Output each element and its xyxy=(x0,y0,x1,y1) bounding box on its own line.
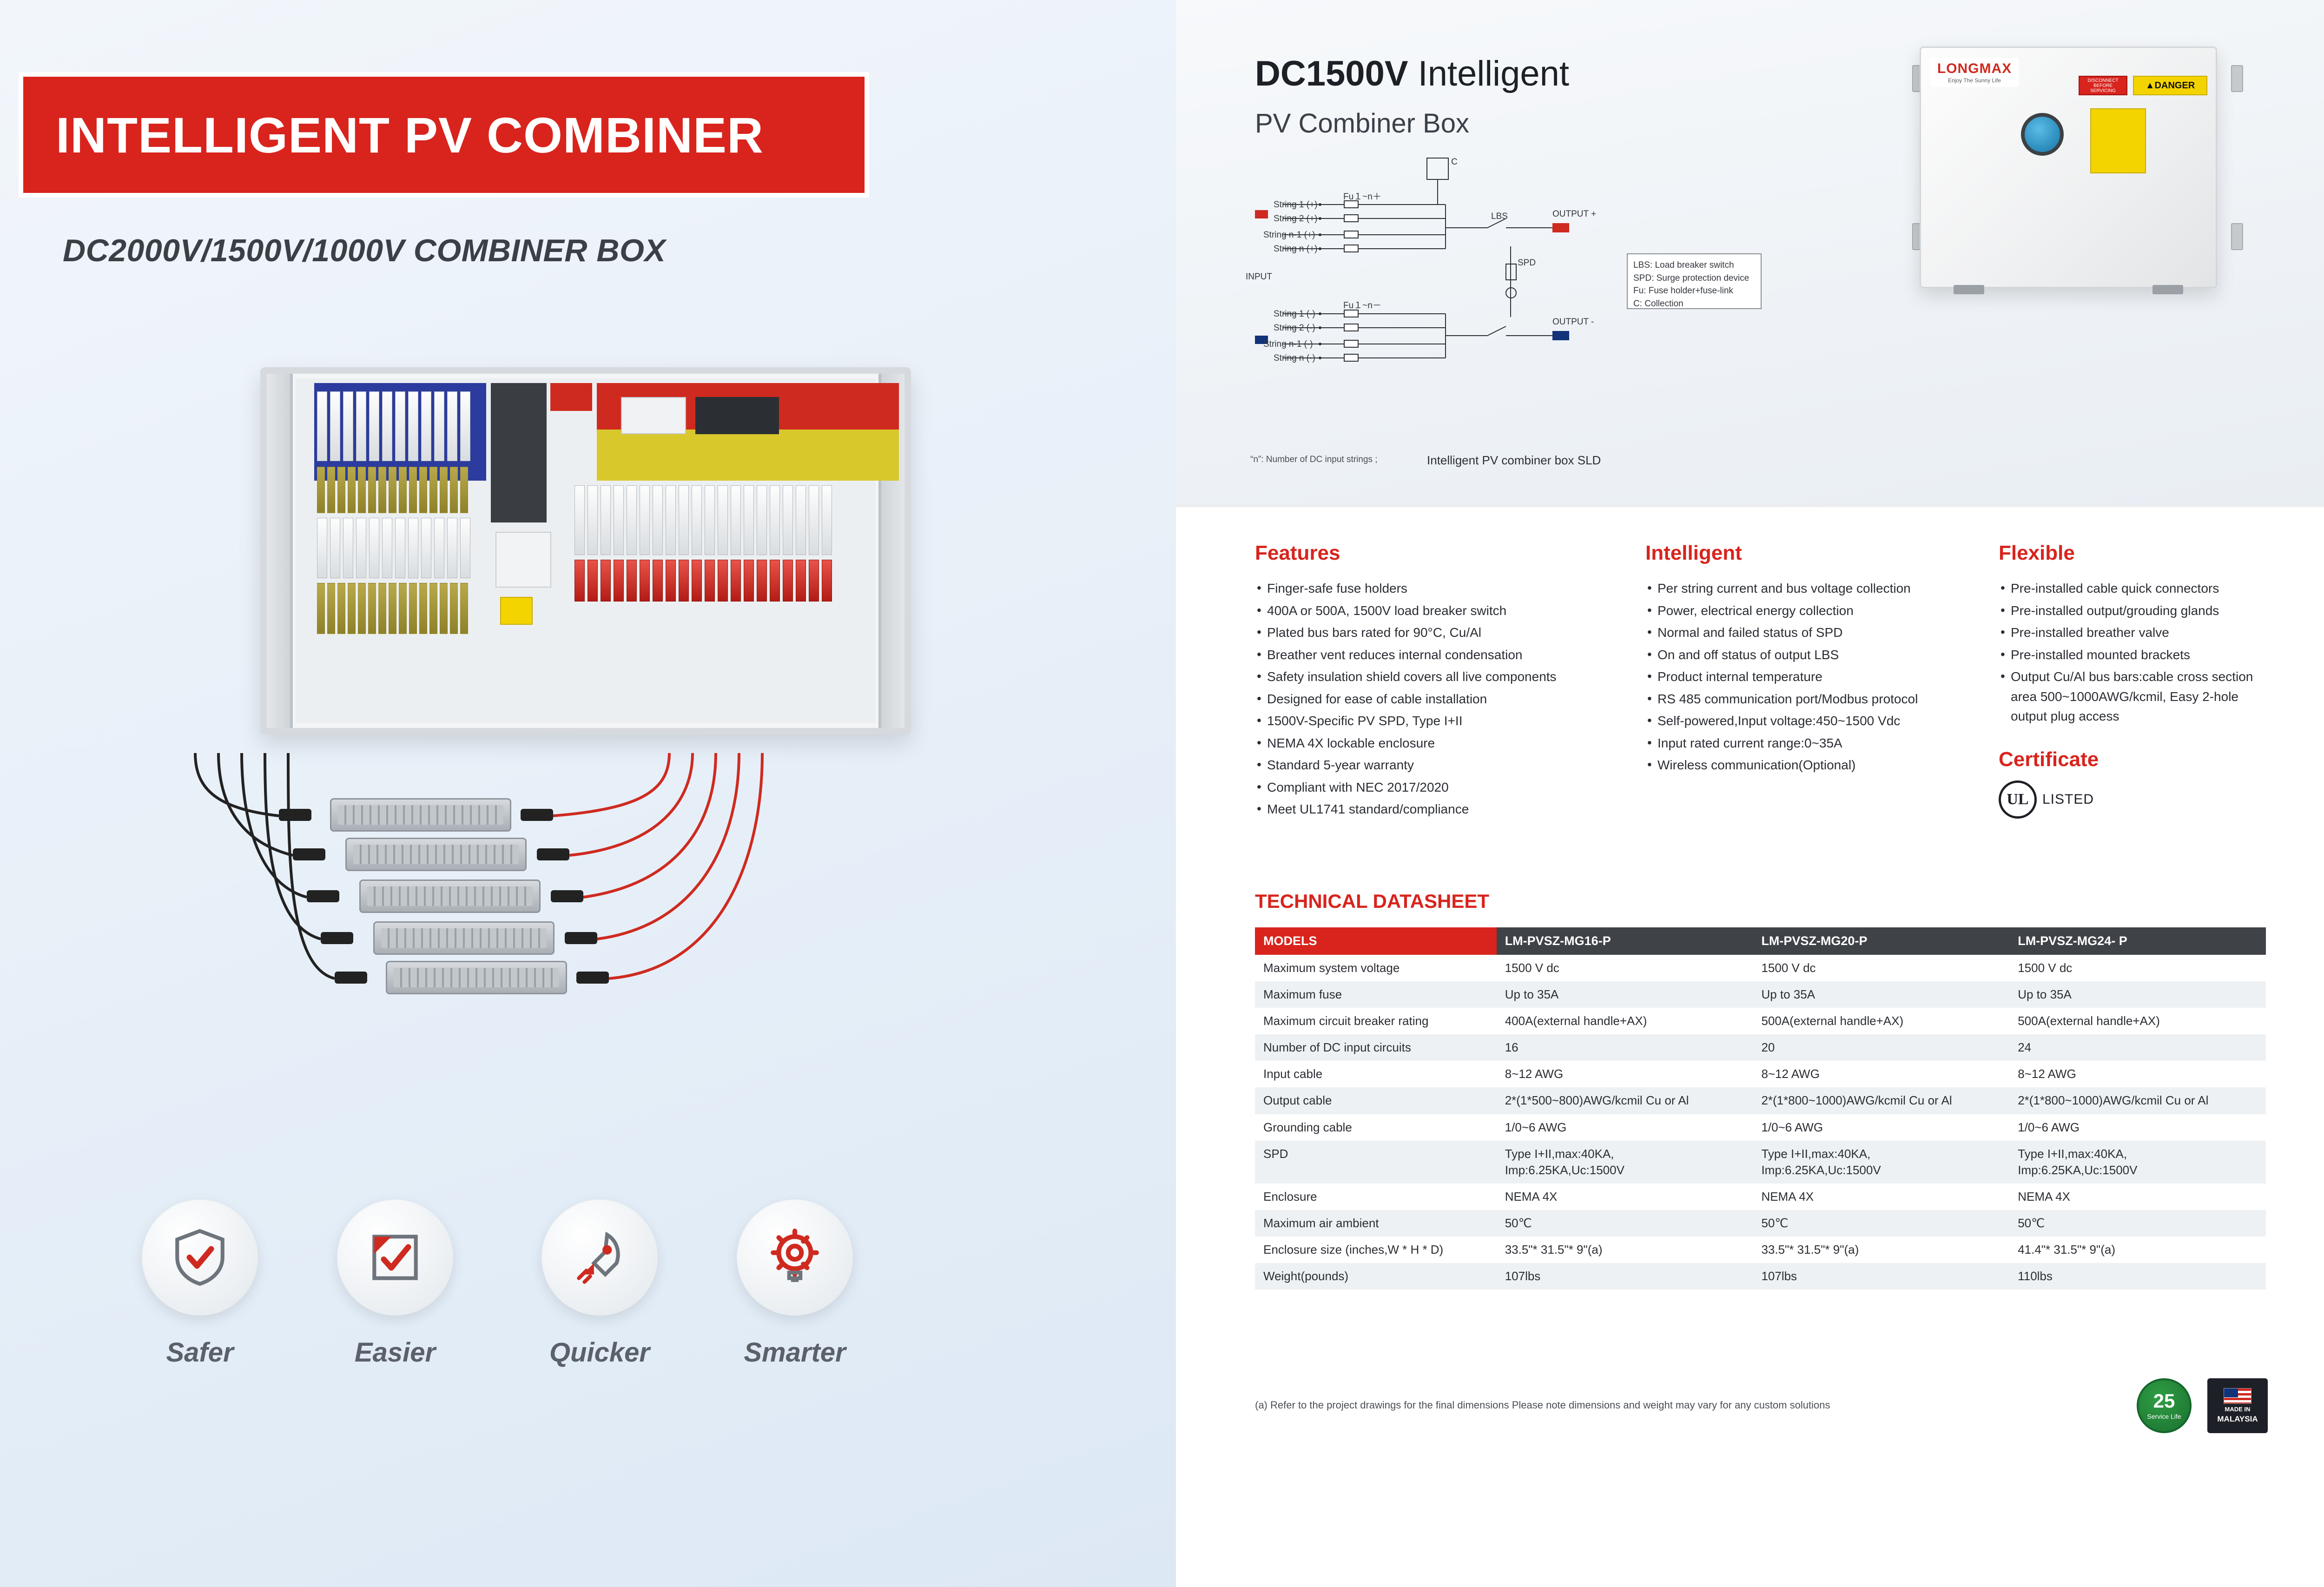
list-item: Meet UL1741 standard/compliance xyxy=(1255,800,1576,820)
row-value: 41.4"* 31.5"* 9"(a) xyxy=(2009,1237,2266,1263)
checklist-icon-wrap xyxy=(337,1199,453,1316)
intelligent-list: Per string current and bus voltage colle… xyxy=(1645,579,1966,775)
danger-label: ▲DANGER xyxy=(2133,76,2207,95)
table-row: Number of DC input circuits 16 20 24 xyxy=(1255,1034,2266,1061)
sld-string-neg-2: String 2 (-) xyxy=(1274,323,1315,333)
table-row: Output cable 2*(1*500~800)AWG/kcmil Cu o… xyxy=(1255,1087,2266,1114)
enclosure-interior xyxy=(296,378,876,723)
legend-item-spd: SPD: Surge protection device xyxy=(1633,272,1755,285)
row-value: 33.5"* 31.5"* 9"(a) xyxy=(1497,1237,1753,1263)
table-row: SPD Type I+II,max:40KA, Imp:6.25KA,Uc:15… xyxy=(1255,1141,2266,1184)
power-supply-module xyxy=(695,397,779,434)
row-value: 1500 V dc xyxy=(1497,955,1753,981)
hero-section: DC1500V Intelligent PV Combiner Box xyxy=(1176,0,2324,504)
pv-module-3 xyxy=(359,879,541,913)
list-item: Pre-installed cable quick connectors xyxy=(1999,579,2278,599)
benefit-icons: Safer Easier xyxy=(60,1199,1083,1478)
pv-string-cable-diagram xyxy=(139,734,906,1144)
th-model-2: LM-PVSZ-MG20-P xyxy=(1753,927,2009,955)
list-item: Breather vent reduces internal condensat… xyxy=(1255,645,1576,665)
made-in-malaysia-badge: MADE IN MALAYSIA xyxy=(2207,1378,2268,1433)
features-list: Finger-safe fuse holders 400A or 500A, 1… xyxy=(1255,579,1576,820)
list-item: RS 485 communication port/Modbus protoco… xyxy=(1645,689,1966,709)
benefit-label-safer: Safer xyxy=(125,1337,274,1368)
list-item: Normal and failed status of SPD xyxy=(1645,623,1966,643)
datasheet-title: TECHNICAL DATASHEET xyxy=(1255,890,1489,913)
sld-lbs-label: LBS xyxy=(1491,212,1508,222)
row-value: 107lbs xyxy=(1753,1263,2009,1289)
sld-output-pos-label: OUTPUT + xyxy=(1552,209,1596,219)
sld-note: “n”: Number of DC input strings ; xyxy=(1250,455,1377,465)
table-row: Input cable 8~12 AWG 8~12 AWG 8~12 AWG xyxy=(1255,1061,2266,1087)
row-value: Up to 35A xyxy=(2009,981,2266,1008)
product-subtitle: PV Combiner Box xyxy=(1255,108,1469,139)
gear-bulb-icon xyxy=(765,1227,825,1288)
row-value: 400A(external handle+AX) xyxy=(1497,1008,1753,1034)
pv-module-1 xyxy=(330,798,511,832)
sld-string-pos-2: String 2 (+) xyxy=(1274,214,1318,224)
row-value: 8~12 AWG xyxy=(1497,1061,1753,1087)
service-life-badge: 25 Service Life xyxy=(2137,1378,2192,1433)
main-title-banner: INTELLIGENT PV COMBINER xyxy=(19,72,869,198)
row-value: 1/0~6 AWG xyxy=(2009,1114,2266,1141)
list-item: Pre-installed mounted brackets xyxy=(1999,645,2278,665)
table-row: Enclosure NEMA 4X NEMA 4X NEMA 4X xyxy=(1255,1184,2266,1210)
country-text: MALAYSIA xyxy=(2217,1415,2258,1424)
list-item: Plated bus bars rated for 90°C, Cu/Al xyxy=(1255,623,1576,643)
output-fuse-row-right xyxy=(574,560,895,602)
table-row: Enclosure size (inches,W * H * D) 33.5"*… xyxy=(1255,1237,2266,1263)
yellow-shield xyxy=(597,430,899,481)
meter-display xyxy=(621,397,686,434)
terminal-row-left xyxy=(317,467,484,513)
benefit-smarter: Smarter xyxy=(720,1199,869,1368)
row-label: Maximum circuit breaker rating xyxy=(1255,1008,1497,1034)
input-fuse-row-left xyxy=(317,391,482,461)
benefit-safer: Safer xyxy=(125,1199,274,1368)
section-divider xyxy=(1176,504,2324,507)
rocket-icon-wrap xyxy=(541,1199,658,1316)
warning-sticker xyxy=(2090,108,2146,173)
legend-item-c: C: Collection xyxy=(1633,298,1755,311)
row-label: Enclosure xyxy=(1255,1184,1497,1210)
main-subtitle: DC2000V/1500V/1000V COMBINER BOX xyxy=(63,232,666,269)
row-value: 8~12 AWG xyxy=(1753,1061,2009,1087)
row-value: 500A(external handle+AX) xyxy=(2009,1008,2266,1034)
row-value: 1/0~6 AWG xyxy=(1753,1114,2009,1141)
row-value: 8~12 AWG xyxy=(2009,1061,2266,1087)
datasheet-footnote: (a) Refer to the project drawings for th… xyxy=(1255,1399,1830,1411)
brand-tagline: Enjoy The Sunny Life xyxy=(1948,78,2001,83)
th-model-3: LM-PVSZ-MG24- P xyxy=(2009,927,2266,955)
list-item: Designed for ease of cable installation xyxy=(1255,689,1576,709)
sld-output-neg-label: OUTPUT - xyxy=(1552,317,1594,327)
table-row: Grounding cable 1/0~6 AWG 1/0~6 AWG 1/0~… xyxy=(1255,1114,2266,1141)
sld-string-pos-4: String n (+) xyxy=(1274,244,1318,254)
row-value: 2*(1*800~1000)AWG/kcmil Cu or Al xyxy=(1753,1087,2009,1114)
column-flexible: Flexible Pre-installed cable quick conne… xyxy=(1999,542,2278,819)
row-value: 500A(external handle+AX) xyxy=(1753,1008,2009,1034)
pv-module-4 xyxy=(373,921,555,955)
row-value: Type I+II,max:40KA, Imp:6.25KA,Uc:1500V xyxy=(1497,1141,1753,1184)
ul-icon: UL xyxy=(1999,780,2037,819)
row-value: Up to 35A xyxy=(1497,981,1753,1008)
row-label: Output cable xyxy=(1255,1087,1497,1114)
row-value: Up to 35A xyxy=(1753,981,2009,1008)
column-heading-features: Features xyxy=(1255,542,1576,565)
malaysia-flag-icon xyxy=(2224,1388,2251,1404)
breaker-block xyxy=(491,383,547,522)
row-value: 107lbs xyxy=(1497,1263,1753,1289)
input-fuse-row-left-2 xyxy=(317,518,482,578)
table-row: Maximum fuse Up to 35A Up to 35A Up to 3… xyxy=(1255,981,2266,1008)
row-label: Enclosure size (inches,W * H * D) xyxy=(1255,1237,1497,1263)
list-item: Output Cu/Al bus bars:cable cross sectio… xyxy=(1999,667,2278,727)
checklist-icon xyxy=(365,1227,425,1288)
sld-string-neg-4: String n (-) xyxy=(1274,353,1315,364)
brand-logo: LONGMAX Enjoy The Sunny Life xyxy=(1930,58,2019,87)
benefit-easier: Easier xyxy=(321,1199,469,1368)
column-heading-flexible: Flexible xyxy=(1999,542,2278,565)
benefit-label-quicker: Quicker xyxy=(525,1337,674,1368)
sld-collection-label: C xyxy=(1451,157,1458,167)
sld-string-neg-3: String n-1 (-) xyxy=(1263,339,1313,350)
list-item: NEMA 4X lockable enclosure xyxy=(1255,734,1576,754)
product-title: DC1500V Intelligent xyxy=(1255,53,1569,94)
ul-listed-text: LISTED xyxy=(2042,792,2094,807)
table-row: Maximum system voltage 1500 V dc 1500 V … xyxy=(1255,955,2266,981)
brochure-page: INTELLIGENT PV COMBINER DC2000V/1500V/10… xyxy=(0,0,2324,1587)
table-head: MODELS LM-PVSZ-MG16-P LM-PVSZ-MG20-P LM-… xyxy=(1255,927,2266,955)
disconnect-warning-label: DISCONNECT BEFORE SERVICING xyxy=(2079,76,2127,95)
product-open-box-photo xyxy=(260,367,911,734)
brand-name: LONGMAX xyxy=(1937,62,2012,76)
sld-spd-label: SPD xyxy=(1518,258,1536,268)
shield-check-icon xyxy=(170,1227,230,1288)
row-label: Maximum fuse xyxy=(1255,981,1497,1008)
row-label: SPD xyxy=(1255,1141,1497,1184)
spd-module xyxy=(495,532,551,588)
service-life-number: 25 xyxy=(2153,1391,2175,1411)
th-models: MODELS xyxy=(1255,927,1497,955)
row-value: 110lbs xyxy=(2009,1263,2266,1289)
shield-check-icon-wrap xyxy=(142,1199,258,1316)
list-item: Standard 5-year warranty xyxy=(1255,755,1576,775)
list-item: Compliant with NEC 2017/2020 xyxy=(1255,778,1576,798)
list-item: Finger-safe fuse holders xyxy=(1255,579,1576,599)
pv-module-5 xyxy=(386,961,567,994)
enclosure-front-door: LONGMAX Enjoy The Sunny Life DISCONNECT … xyxy=(1920,46,2217,288)
certificate-heading: Certificate xyxy=(1999,748,2278,771)
sld-string-pos-3: String n-1 (+) xyxy=(1263,230,1315,240)
list-item: Power, electrical energy collection xyxy=(1645,601,1966,621)
row-label: Weight(pounds) xyxy=(1255,1263,1497,1289)
row-label: Maximum air ambient xyxy=(1255,1210,1497,1237)
left-panel: INTELLIGENT PV COMBINER DC2000V/1500V/10… xyxy=(0,0,1176,1587)
mounting-foot-right xyxy=(2152,285,2183,294)
technical-datasheet-table: MODELS LM-PVSZ-MG16-P LM-PVSZ-MG20-P LM-… xyxy=(1255,927,2266,1289)
row-value: 16 xyxy=(1497,1034,1753,1061)
row-value: Type I+II,max:40KA, Imp:6.25KA,Uc:1500V xyxy=(2009,1141,2266,1184)
right-panel: DC1500V Intelligent PV Combiner Box xyxy=(1176,0,2324,1587)
row-value: 2*(1*800~1000)AWG/kcmil Cu or Al xyxy=(2009,1087,2266,1114)
sld-legend: LBS: Load breaker switch SPD: Surge prot… xyxy=(1627,253,1762,309)
enclosure-left-door xyxy=(260,367,293,734)
list-item: Pre-installed output/grouding glands xyxy=(1999,601,2278,621)
sld-string-neg-1: String 1 (-) xyxy=(1274,309,1315,319)
list-item: 400A or 500A, 1500V load breaker switch xyxy=(1255,601,1576,621)
hinge-top-right xyxy=(2231,65,2243,92)
table-row: Weight(pounds) 107lbs 107lbs 110lbs xyxy=(1255,1263,2266,1289)
single-line-diagram: String 1 (+) String 2 (+) String n-1 (+)… xyxy=(1227,153,1780,469)
row-label: Number of DC input circuits xyxy=(1255,1034,1497,1061)
product-title-bold: DC1500V xyxy=(1255,54,1408,93)
column-intelligent: Intelligent Per string current and bus v… xyxy=(1645,542,1966,778)
row-value: 33.5"* 31.5"* 9"(a) xyxy=(1753,1237,2009,1263)
row-label: Grounding cable xyxy=(1255,1114,1497,1141)
rocket-icon xyxy=(569,1227,630,1288)
row-value: 20 xyxy=(1753,1034,2009,1061)
table-body: Maximum system voltage 1500 V dc 1500 V … xyxy=(1255,955,2266,1289)
service-life-text: Service Life xyxy=(2147,1413,2181,1420)
high-voltage-warning-label xyxy=(500,597,533,625)
list-item: Input rated current range:0~35A xyxy=(1645,734,1966,754)
list-item: Pre-installed breather valve xyxy=(1999,623,2278,643)
row-value: 1/0~6 AWG xyxy=(1497,1114,1753,1141)
column-heading-intelligent: Intelligent xyxy=(1645,542,1966,565)
row-value: NEMA 4X xyxy=(2009,1184,2266,1210)
row-value: 1500 V dc xyxy=(2009,955,2266,981)
row-value: NEMA 4X xyxy=(1753,1184,2009,1210)
row-value: 50℃ xyxy=(2009,1210,2266,1237)
table-header-row: MODELS LM-PVSZ-MG16-P LM-PVSZ-MG20-P LM-… xyxy=(1255,927,2266,955)
legend-item-fu: Fu: Fuse holder+fuse-link xyxy=(1633,284,1755,298)
row-label: Input cable xyxy=(1255,1061,1497,1087)
row-value: 50℃ xyxy=(1497,1210,1753,1237)
input-fuse-row-right xyxy=(574,485,895,555)
list-item: Safety insulation shield covers all live… xyxy=(1255,667,1576,687)
table-row: Maximum air ambient 50℃ 50℃ 50℃ xyxy=(1255,1210,2266,1237)
row-value: 50℃ xyxy=(1753,1210,2009,1237)
list-item: Wireless communication(Optional) xyxy=(1645,755,1966,775)
mounting-foot-left xyxy=(1954,285,1984,294)
list-item: Self-powered,Input voltage:450~1500 Vdc xyxy=(1645,711,1966,731)
column-features: Features Finger-safe fuse holders 400A o… xyxy=(1255,542,1576,822)
table-row: Maximum circuit breaker rating 400A(exte… xyxy=(1255,1008,2266,1034)
red-indicator-block xyxy=(550,383,592,411)
rotary-disconnect-handle[interactable] xyxy=(2021,113,2064,156)
main-title: INTELLIGENT PV COMBINER xyxy=(56,106,764,164)
th-model-1: LM-PVSZ-MG16-P xyxy=(1497,927,1753,955)
sld-fuse-neg-label: Fu１~n－ xyxy=(1343,298,1381,311)
product-closed-box-photo: LONGMAX Enjoy The Sunny Life DISCONNECT … xyxy=(1901,37,2254,307)
terminal-row-left-2 xyxy=(317,583,484,634)
hinge-bottom-right xyxy=(2231,223,2243,250)
row-label: Maximum system voltage xyxy=(1255,955,1497,981)
row-value: Type I+II,max:40KA, Imp:6.25KA,Uc:1500V xyxy=(1753,1141,2009,1184)
benefit-label-smarter: Smarter xyxy=(720,1337,869,1368)
sld-caption: Intelligent PV combiner box SLD xyxy=(1427,453,1601,468)
list-item: Product internal temperature xyxy=(1645,667,1966,687)
pv-module-2 xyxy=(345,838,527,871)
row-value: NEMA 4X xyxy=(1497,1184,1753,1210)
product-title-light: Intelligent xyxy=(1408,54,1569,93)
gear-bulb-icon-wrap xyxy=(737,1199,853,1316)
list-item: 1500V-Specific PV SPD, Type I+II xyxy=(1255,711,1576,731)
flexible-list: Pre-installed cable quick connectors Pre… xyxy=(1999,579,2278,727)
list-item: Per string current and bus voltage colle… xyxy=(1645,579,1966,599)
ul-listed-mark: UL LISTED xyxy=(1999,780,2278,819)
sld-fuse-pos-label: Fu１~n＋ xyxy=(1343,190,1381,202)
row-value: 1500 V dc xyxy=(1753,955,2009,981)
row-value: 2*(1*500~800)AWG/kcmil Cu or Al xyxy=(1497,1087,1753,1114)
sld-string-pos-1: String 1 (+) xyxy=(1274,200,1318,210)
sld-input-label: INPUT xyxy=(1246,272,1272,282)
benefit-quicker: Quicker xyxy=(525,1199,674,1368)
legend-item-lbs: LBS: Load breaker switch xyxy=(1633,259,1755,272)
footer-badges: 25 Service Life MADE IN MALAYSIA xyxy=(2137,1378,2268,1433)
benefit-label-easier: Easier xyxy=(321,1337,469,1368)
made-in-text: MADE IN xyxy=(2225,1406,2251,1413)
list-item: On and off status of output LBS xyxy=(1645,645,1966,665)
row-value: 24 xyxy=(2009,1034,2266,1061)
